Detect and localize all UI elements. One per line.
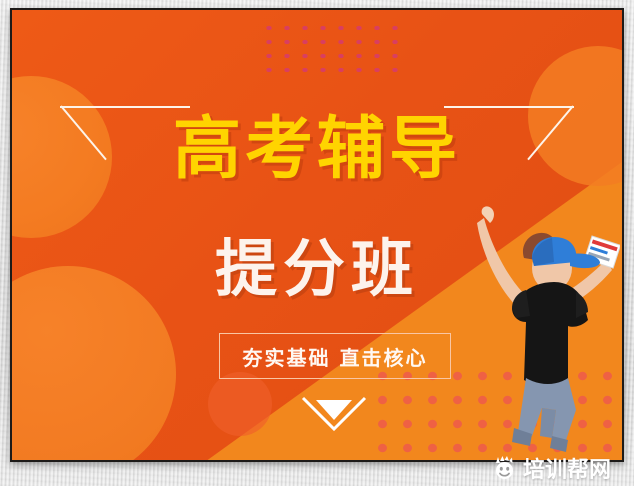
watermark: 培训帮网 (492, 452, 611, 484)
tagline-text: 夯实基础 直击核心 (243, 342, 428, 371)
poster-headline: 高考辅导 (12, 116, 622, 184)
page-root: 高考辅导 提分班 夯实基础 直击核心 (0, 0, 634, 486)
circle-small-accent (208, 372, 272, 436)
chevron-down-icon (301, 396, 367, 434)
tagline-box: 夯实基础 直击核心 (219, 333, 451, 379)
watermark-text: 培训帮网 (523, 452, 611, 484)
dot-grid-top (258, 18, 400, 80)
sun-face-icon (492, 456, 517, 481)
jumping-student-illustration (470, 196, 620, 462)
poster-subheadline: 提分班 (12, 238, 622, 300)
poster-banner: 高考辅导 提分班 夯实基础 直击核心 (10, 8, 624, 462)
